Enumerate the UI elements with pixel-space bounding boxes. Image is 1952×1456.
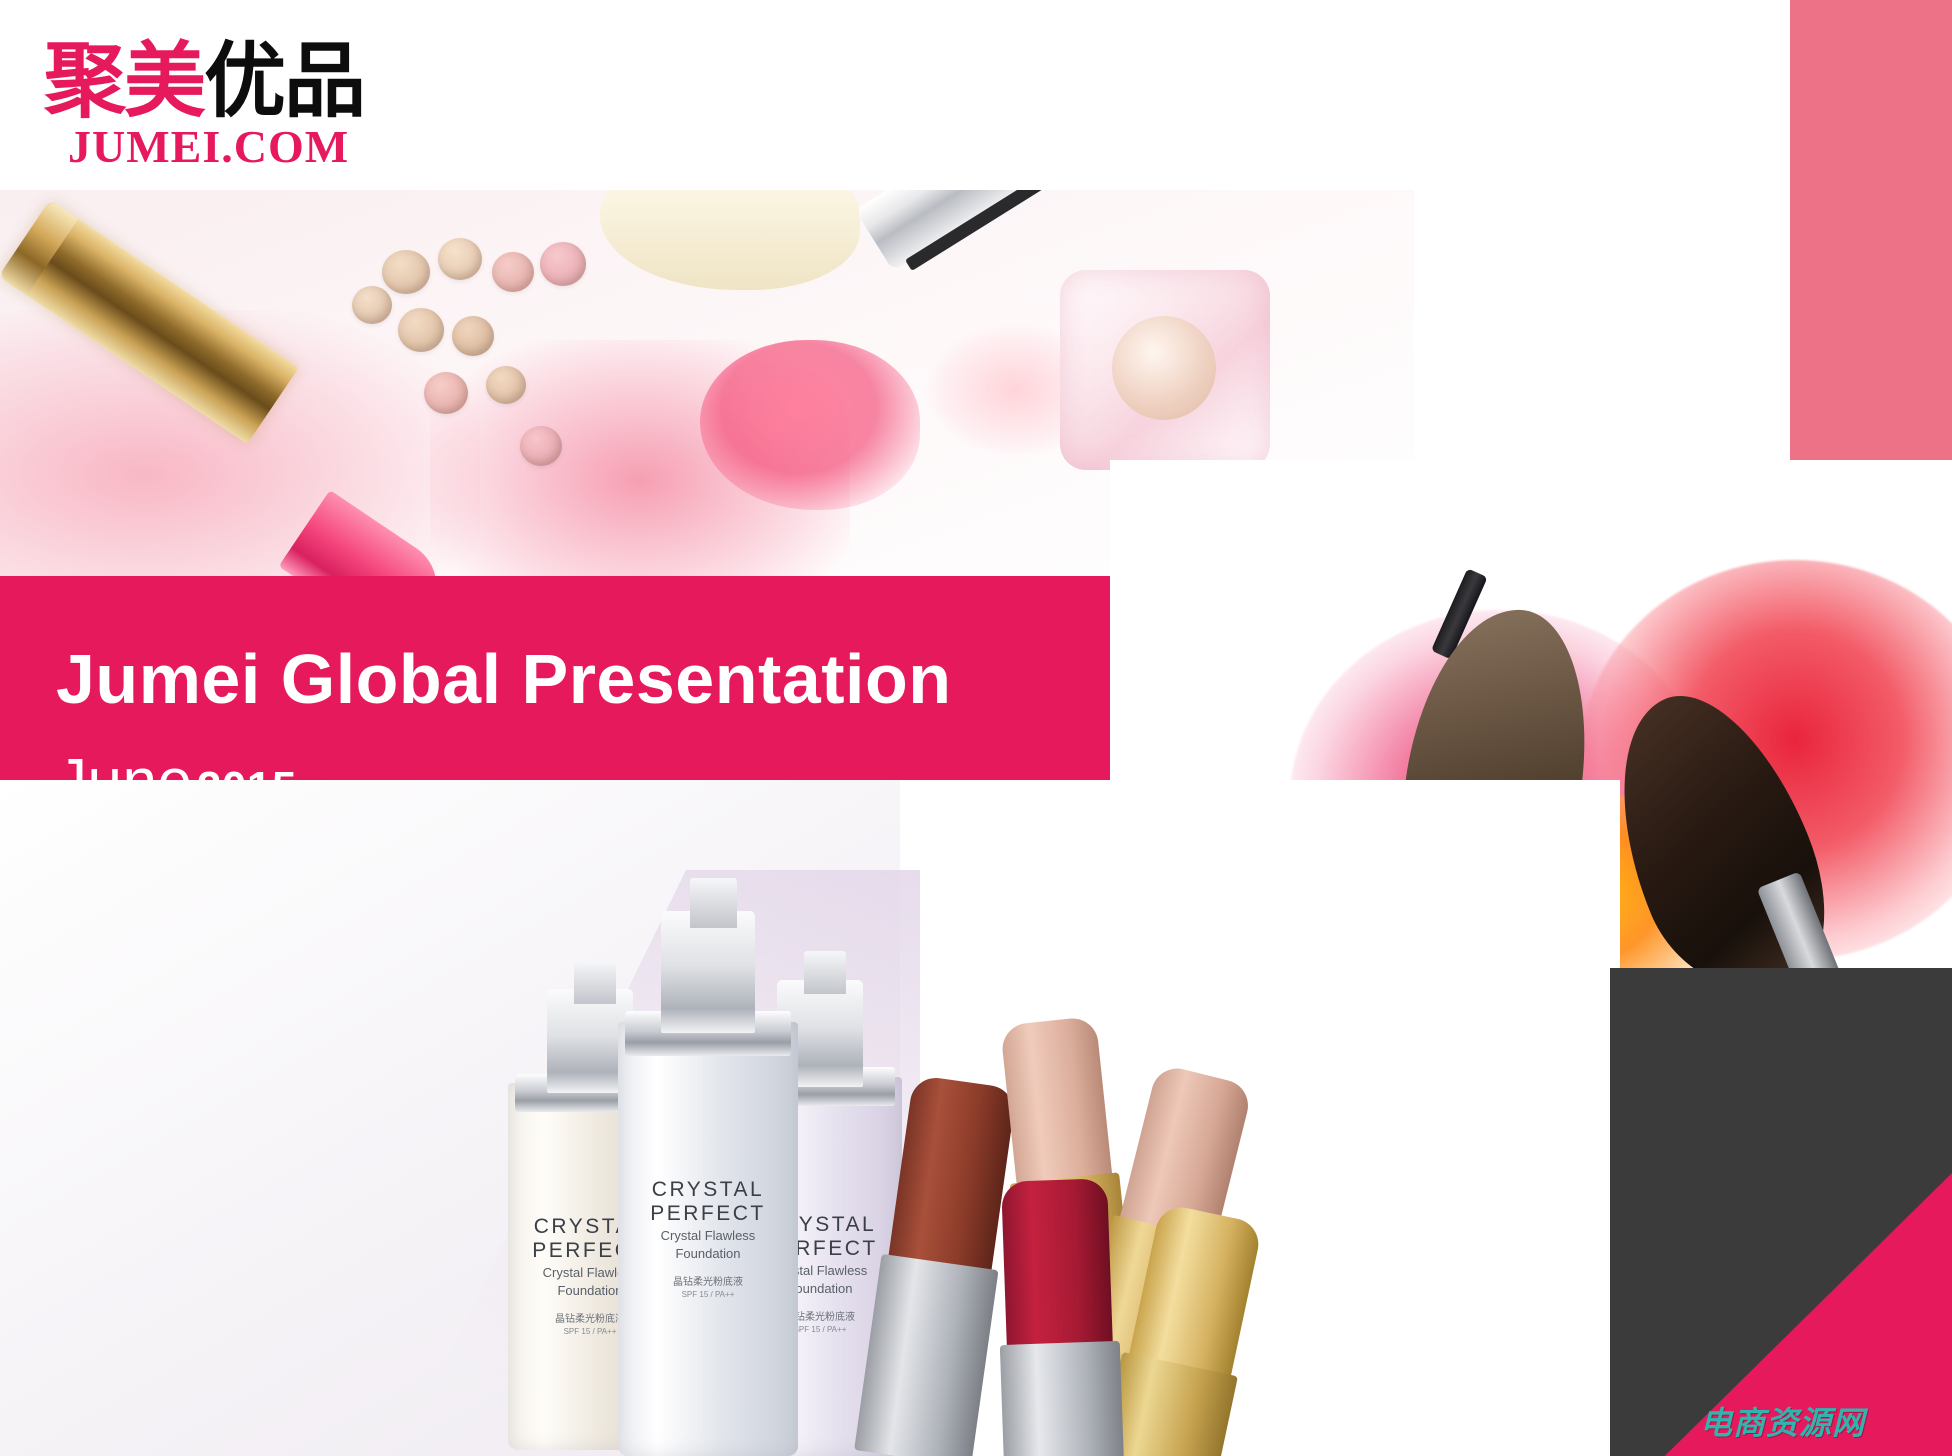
- powder-bead: [352, 286, 392, 324]
- powder-bead: [424, 372, 468, 414]
- lipstick-tube-ring: [0, 200, 78, 295]
- bottle-nozzle: [690, 878, 737, 928]
- powder-bead: [452, 316, 494, 356]
- lipstick-case: [1000, 1341, 1126, 1456]
- product-sub-line1: Crystal Flawless: [629, 1228, 787, 1244]
- bottle-pump: [661, 911, 755, 1033]
- nail-polish-spill: [700, 340, 920, 510]
- presentation-slide: 聚美优品 JUMEI.COM Jumei Global Presentation…: [0, 0, 1952, 1456]
- logo-char-pin: 品: [284, 34, 364, 129]
- powder-bead: [540, 242, 586, 286]
- page-title: Jumei Global Presentation: [56, 640, 1056, 718]
- lipstick-bullet: [1001, 1178, 1113, 1365]
- powder-bead: [486, 366, 526, 404]
- logo-char-mei: 美: [124, 34, 204, 129]
- jumei-logo: 聚美优品 JUMEI.COM: [44, 38, 384, 168]
- product-cn-name: 晶钻柔光粉底液: [629, 1276, 787, 1289]
- cream-blob: [600, 190, 860, 290]
- bottle-label: CRYSTAL PERFECT Crystal Flawless Foundat…: [629, 1178, 787, 1300]
- powder-bead: [438, 238, 482, 280]
- product-brand-line1: CRYSTAL: [629, 1178, 787, 1202]
- product-sub-line2: Foundation: [629, 1246, 787, 1262]
- bottle-nozzle: [574, 961, 617, 1003]
- logo-domain-text: JUMEI.COM: [68, 120, 384, 173]
- product-photo-bottom: CRYSTAL PERFECT Crystal Flawless Foundat…: [0, 780, 1620, 1456]
- bottle-nozzle: [804, 951, 847, 995]
- logo-char-ju: 聚: [44, 34, 124, 129]
- powder-bead: [382, 250, 430, 294]
- logo-chinese-wordmark: 聚美优品: [44, 38, 384, 126]
- powder-bead: [398, 308, 444, 352]
- nail-polish-bottle: [1060, 270, 1270, 470]
- site-watermark: 电商资源网: [1700, 1398, 1865, 1444]
- lipstick-red: [994, 1178, 1126, 1456]
- product-brand-line2: PERFECT: [629, 1202, 787, 1226]
- logo-char-you: 优: [204, 34, 284, 129]
- powder-bead: [492, 252, 534, 292]
- powder-bead: [520, 426, 562, 466]
- product-volume: SPF 15 / PA++: [629, 1289, 787, 1300]
- foundation-bottle: CRYSTAL PERFECT Crystal Flawless Foundat…: [618, 900, 798, 1456]
